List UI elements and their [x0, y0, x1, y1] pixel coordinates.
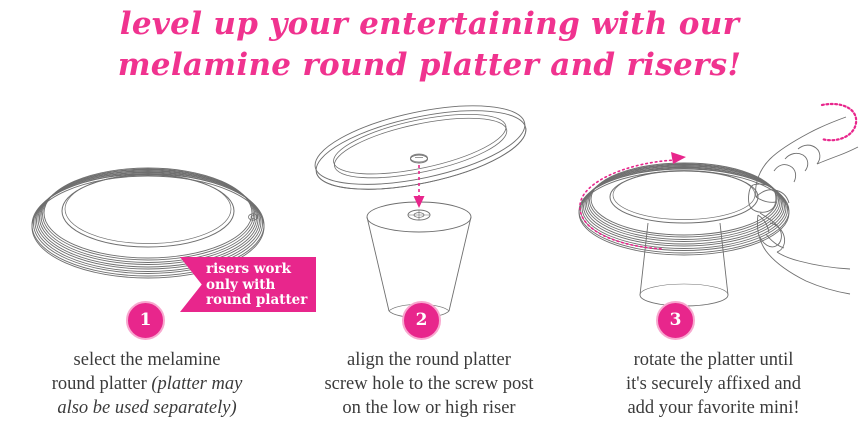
step-badge-1-number: 1 [128, 303, 163, 338]
step-2-caption: align the round platter screw hole to th… [288, 348, 570, 420]
instruction-infographic: level up your entertaining with our mela… [0, 0, 859, 434]
step-3-caption-line-1: rotate the platter until [570, 348, 857, 372]
headline-line-1: level up your entertaining with our [120, 6, 739, 42]
page-title: level up your entertaining with our mela… [0, 4, 859, 86]
step-1-caption: select the melamine round platter (platt… [6, 348, 288, 420]
step-2-caption-line-1: align the round platter [288, 348, 570, 372]
rotating-platter-hands-illustration [570, 95, 859, 340]
step-3-caption: rotate the platter until it's securely a… [570, 348, 857, 420]
step-badge-2-number: 2 [404, 303, 439, 338]
step-1-caption-line-1: select the melamine [6, 348, 288, 372]
step-2-caption-line-2: screw hole to the screw post [288, 372, 570, 396]
step-2-caption-line-3: on the low or high riser [288, 396, 570, 420]
callout-banner-text: risers work only with round platter [206, 262, 310, 309]
step-1-caption-line-2: round platter (platter may [6, 372, 288, 396]
step-1-caption-line-3: also be used separately) [6, 396, 288, 420]
step-3-caption-line-3: add your favorite mini! [570, 396, 857, 420]
step-badge-3: 3 [656, 301, 695, 340]
step-badge-3-number: 3 [658, 303, 693, 338]
step-3-caption-line-2: it's securely affixed and [570, 372, 857, 396]
step-badge-1: 1 [126, 301, 165, 340]
headline-line-2: melamine round platter and risers! [0, 45, 859, 86]
step-1-caption-line-2-italic: (platter may [151, 374, 242, 394]
callout-line-3: round platter [206, 293, 310, 309]
callout-line-1: risers work [206, 262, 310, 278]
callout-line-2: only with [206, 278, 310, 294]
step-1-caption-line-3-italic: also be used separately) [57, 398, 236, 418]
step-1-caption-line-2-plain: round platter [52, 374, 152, 394]
step-badge-2: 2 [402, 301, 441, 340]
step-3-panel [570, 95, 859, 340]
